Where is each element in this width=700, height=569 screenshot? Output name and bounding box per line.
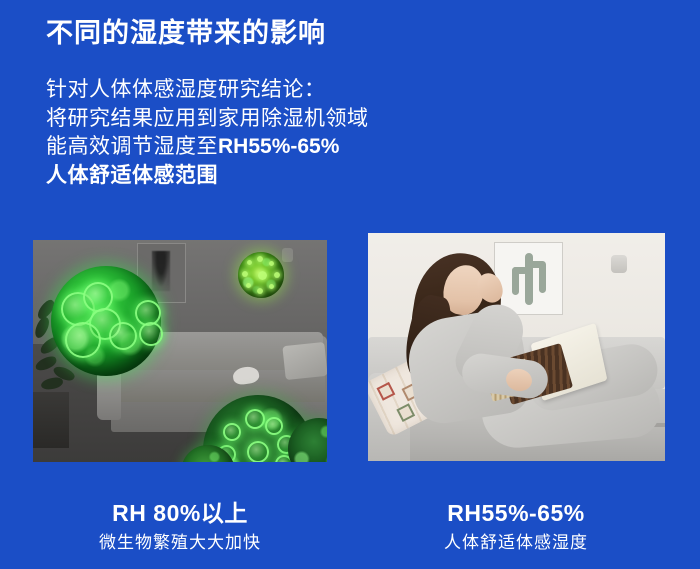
intro-line-3-prefix: 能高效调节湿度至 xyxy=(46,135,218,158)
wall-sensor-icon xyxy=(282,248,293,262)
caption-comfort-humidity: RH55%-65% 人体舒适体感湿度 xyxy=(366,498,666,556)
caption-high-humidity: RH 80%以上 微生物繁殖大大加快 xyxy=(30,498,330,556)
photo-high-humidity xyxy=(33,240,327,462)
microbe-sphere-large xyxy=(51,266,161,376)
intro-line-2: 将研究结果应用到家用除湿机领域 xyxy=(46,105,369,134)
caption-high-humidity-sub: 微生物繁殖大大加快 xyxy=(30,530,330,556)
intro-line-1: 针对人体体感湿度研究结论： xyxy=(46,76,369,105)
dim-room-cushion xyxy=(282,342,327,380)
microbe-sphere-small-top xyxy=(238,252,284,298)
humidity-comparison-poster: 不同的湿度带来的影响 针对人体体感湿度研究结论： 将研究结果应用到家用除湿机领域… xyxy=(0,0,700,569)
caption-comfort-humidity-main: RH55%-65% xyxy=(366,498,666,528)
wall-sensor-icon xyxy=(611,255,627,273)
page-title: 不同的湿度带来的影响 xyxy=(46,17,326,49)
intro-line-3-highlight: RH55%-65% xyxy=(218,135,339,158)
plant-pot xyxy=(33,392,69,448)
intro-paragraph: 针对人体体感湿度研究结论： 将研究结果应用到家用除湿机领域 能高效调节湿度至RH… xyxy=(46,76,369,190)
photo-comfort-humidity xyxy=(368,233,665,461)
intro-line-3: 能高效调节湿度至RH55%-65% xyxy=(46,133,369,162)
dim-room-scene xyxy=(33,240,327,462)
caption-comfort-humidity-sub: 人体舒适体感湿度 xyxy=(366,530,666,556)
intro-line-4: 人体舒适体感范围 xyxy=(46,162,369,191)
cactus-wall-art-icon xyxy=(494,242,563,315)
bright-room-scene xyxy=(368,233,665,461)
caption-high-humidity-main: RH 80%以上 xyxy=(30,498,330,528)
